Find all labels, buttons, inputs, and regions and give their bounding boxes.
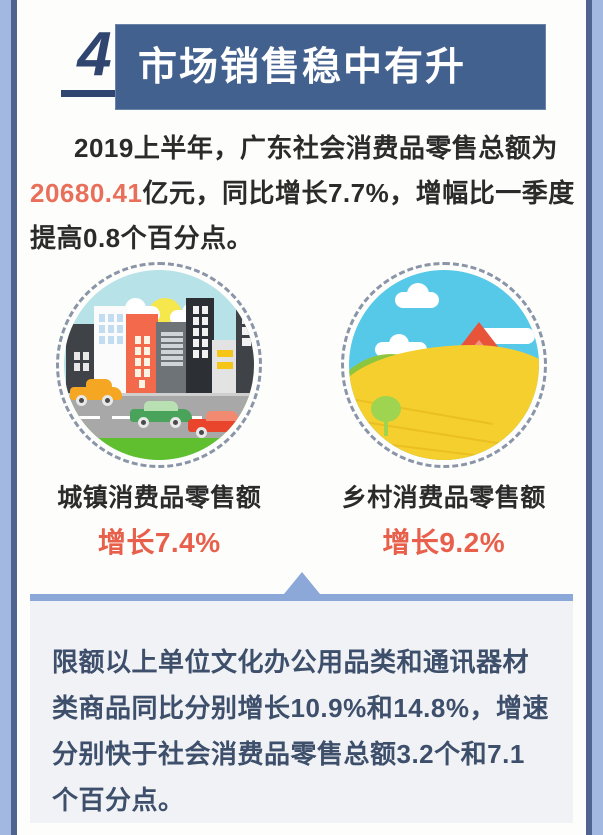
- car-icon: [130, 405, 192, 428]
- infographic-page: 4 市场销售稳中有升 2019上半年，广东社会消费品零售总额为20680.41亿…: [0, 0, 603, 835]
- lead-highlight-number: 20680.41: [30, 178, 142, 208]
- right-edge-band: [592, 0, 603, 835]
- panel-rural: 乡村消费品零售额 增长9.2%: [302, 262, 587, 562]
- statistic-panels: 城镇消费品零售额 增长7.4%: [17, 262, 586, 562]
- building-shape: [156, 322, 188, 398]
- cloud-icon: [395, 292, 439, 308]
- section-header: 4 市场销售稳中有升: [17, 16, 586, 116]
- car-icon: [70, 384, 122, 406]
- right-edge-rule: [586, 0, 592, 835]
- building-shape: [126, 314, 158, 398]
- building-shape: [186, 298, 214, 398]
- car-icon: [188, 415, 250, 438]
- callout-panel: 限额以上单位文化办公用品类和通讯器材类商品同比分别增长10.9%和14.8%，增…: [30, 594, 573, 823]
- city-illustration-icon: [64, 270, 254, 460]
- rural-label: 乡村消费品零售额: [342, 478, 546, 514]
- building-shape: [212, 340, 238, 398]
- rural-circle: [341, 262, 547, 468]
- panel-urban: 城镇消费品零售额 增长7.4%: [17, 262, 302, 562]
- rural-value: 增长9.2%: [382, 521, 505, 561]
- section-title-box: 市场销售稳中有升: [115, 24, 546, 110]
- lead-paragraph: 2019上半年，广东社会消费品零售总额为20680.41亿元，同比增长7.7%，…: [30, 126, 578, 261]
- left-edge-band: [0, 0, 11, 835]
- callout-body: 限额以上单位文化办公用品类和通讯器材类商品同比分别增长10.9%和14.8%，增…: [30, 601, 573, 823]
- callout-text: 限额以上单位文化办公用品类和通讯器材类商品同比分别增长10.9%和14.8%，增…: [52, 639, 551, 823]
- lead-text-part1: 2019上半年，广东社会消费品零售总额为: [74, 133, 558, 163]
- building-shape: [236, 288, 254, 398]
- urban-label: 城镇消费品零售额: [57, 478, 261, 514]
- callout-arrow-icon: [284, 572, 320, 594]
- urban-circle: [56, 262, 262, 468]
- callout-top-accent-bar: [30, 594, 573, 601]
- urban-value: 增长7.4%: [98, 521, 221, 561]
- page-title: 市场销售稳中有升: [138, 48, 466, 87]
- content-canvas: 4 市场销售稳中有升 2019上半年，广东社会消费品零售总额为20680.41亿…: [17, 0, 586, 835]
- countryside-illustration-icon: [349, 270, 539, 460]
